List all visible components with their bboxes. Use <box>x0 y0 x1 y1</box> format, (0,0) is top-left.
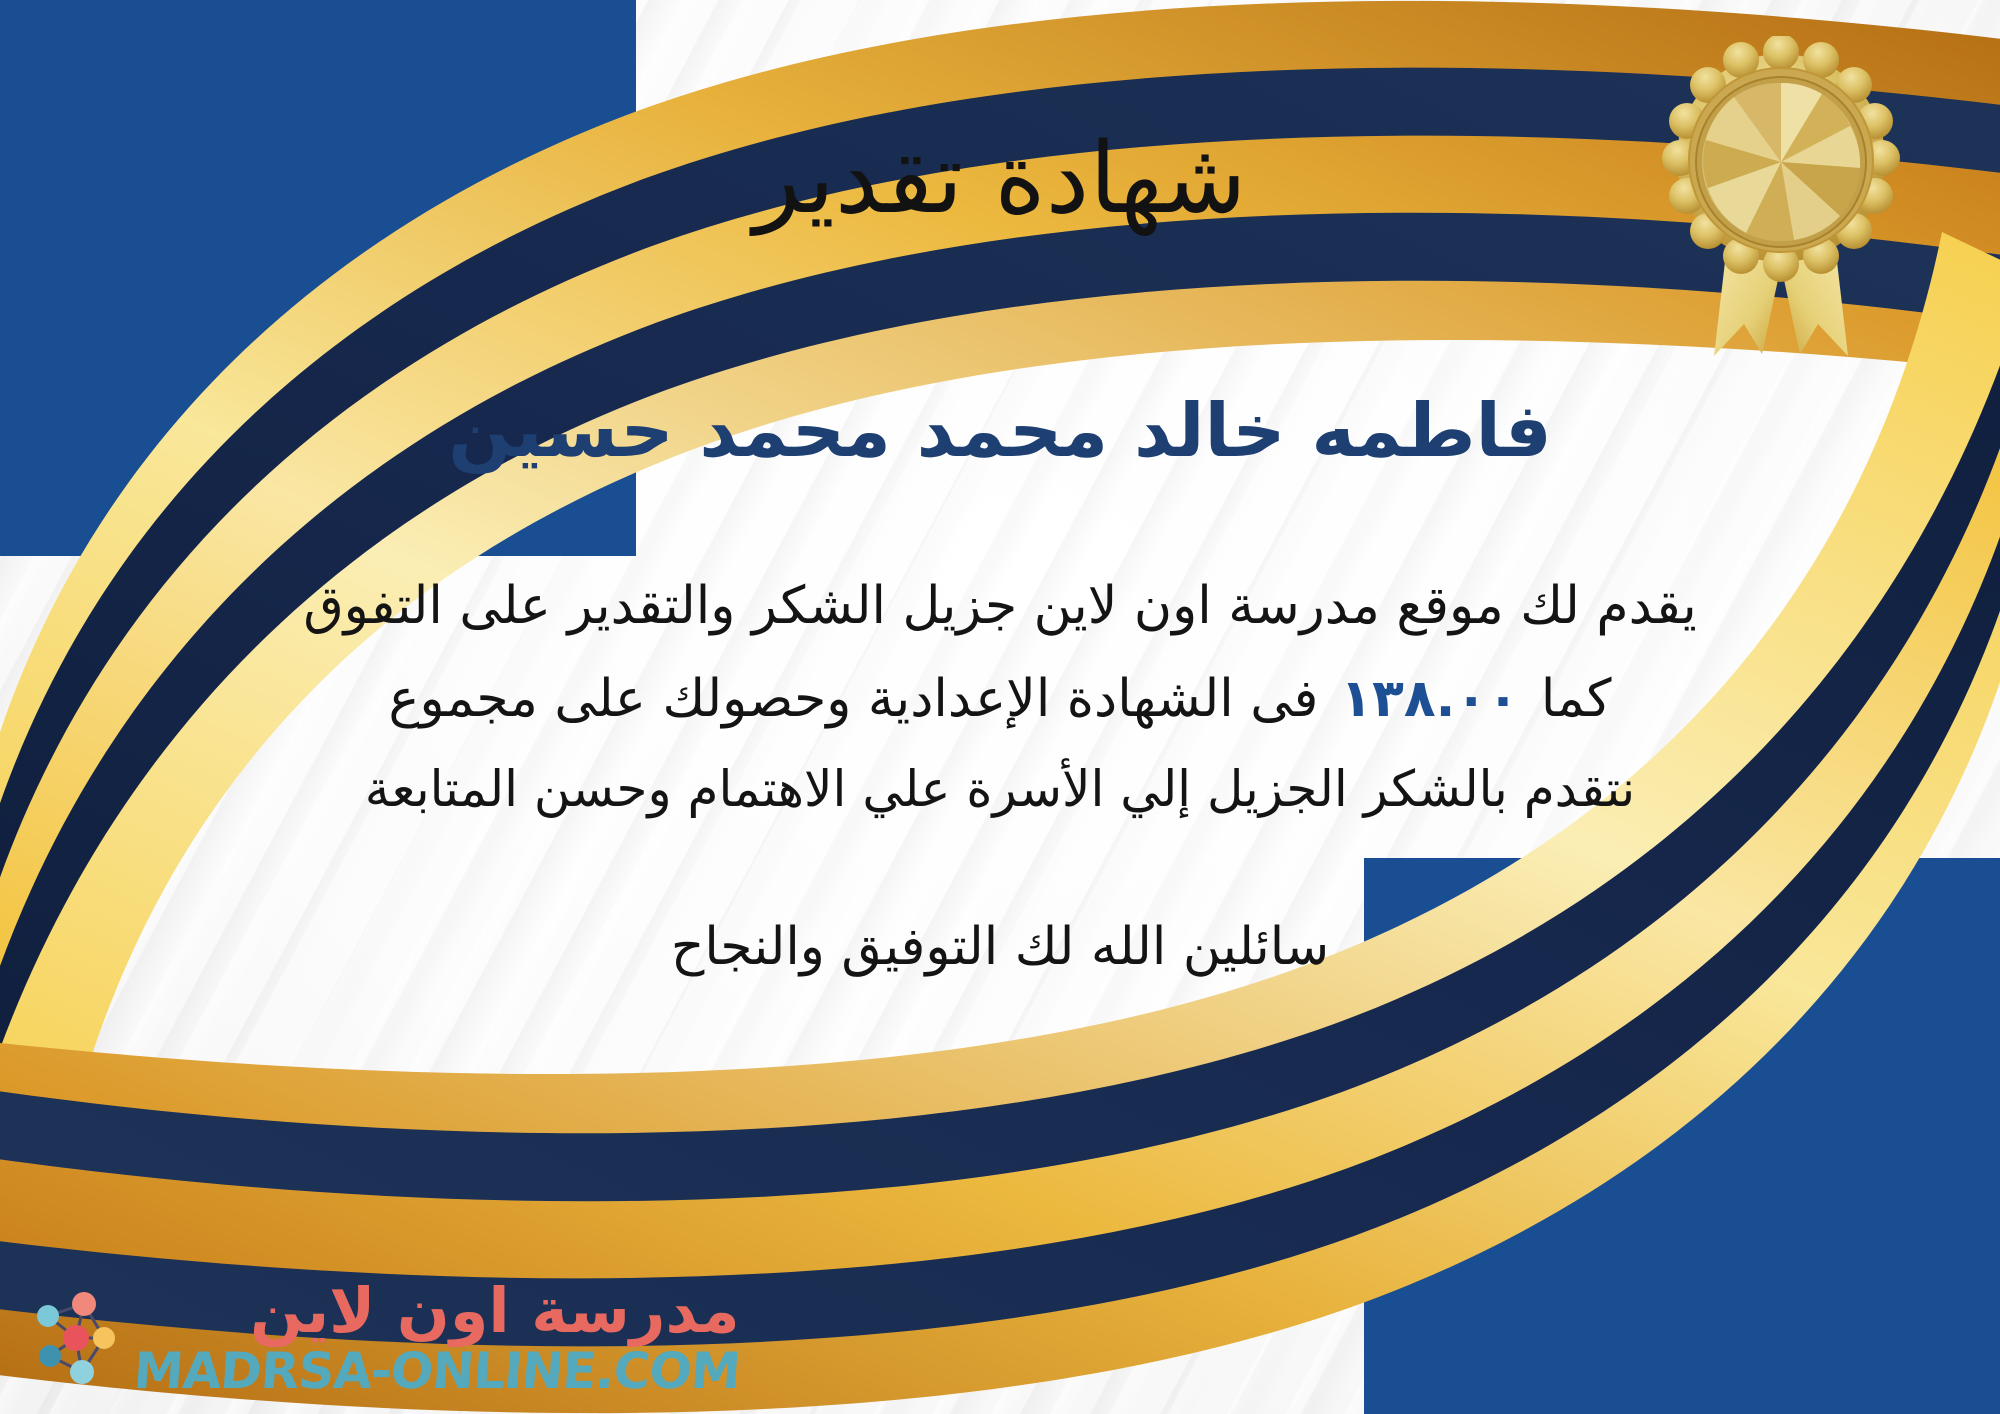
brand-logo[interactable]: مدرسة اون لاين MADRSA-ONLINE.COM <box>24 1280 740 1396</box>
certificate-canvas: شهادة تقدير فاطمه خالد محمد محمد حسين يق… <box>0 0 2000 1414</box>
brand-logo-text: مدرسة اون لاين MADRSA-ONLINE.COM <box>134 1280 740 1396</box>
body-line-3: نتقدم بالشكر الجزيل إلي الأسرة علي الاهت… <box>105 745 1895 834</box>
brand-name-arabic: مدرسة اون لاين <box>250 1280 740 1342</box>
body-line-2: كما١٣٨.٠٠فى الشهادة الإعدادية وحصولك على… <box>105 653 1895 746</box>
certificate-body: يقدم لك موقع مدرسة اون لاين جزيل الشكر و… <box>105 560 1895 834</box>
brand-website: MADRSA-ONLINE.COM <box>132 1346 741 1396</box>
score-value: ١٣٨.٠٠ <box>1318 669 1540 729</box>
certificate-title: شهادة تقدير <box>754 128 1247 231</box>
body-line-2-suffix: كما <box>1541 669 1612 729</box>
body-line-1: يقدم لك موقع مدرسة اون لاين جزيل الشكر و… <box>105 560 1895 653</box>
body-line-2-prefix: فى الشهادة الإعدادية وحصولك على مجموع <box>388 669 1318 729</box>
certificate-content: شهادة تقدير فاطمه خالد محمد محمد حسين يق… <box>0 0 2000 1414</box>
closing-wish: سائلين الله لك التوفيق والنجاح <box>671 908 1329 986</box>
network-nodes-icon <box>24 1282 120 1394</box>
recipient-name: فاطمه خالد محمد محمد حسين <box>448 389 1552 474</box>
